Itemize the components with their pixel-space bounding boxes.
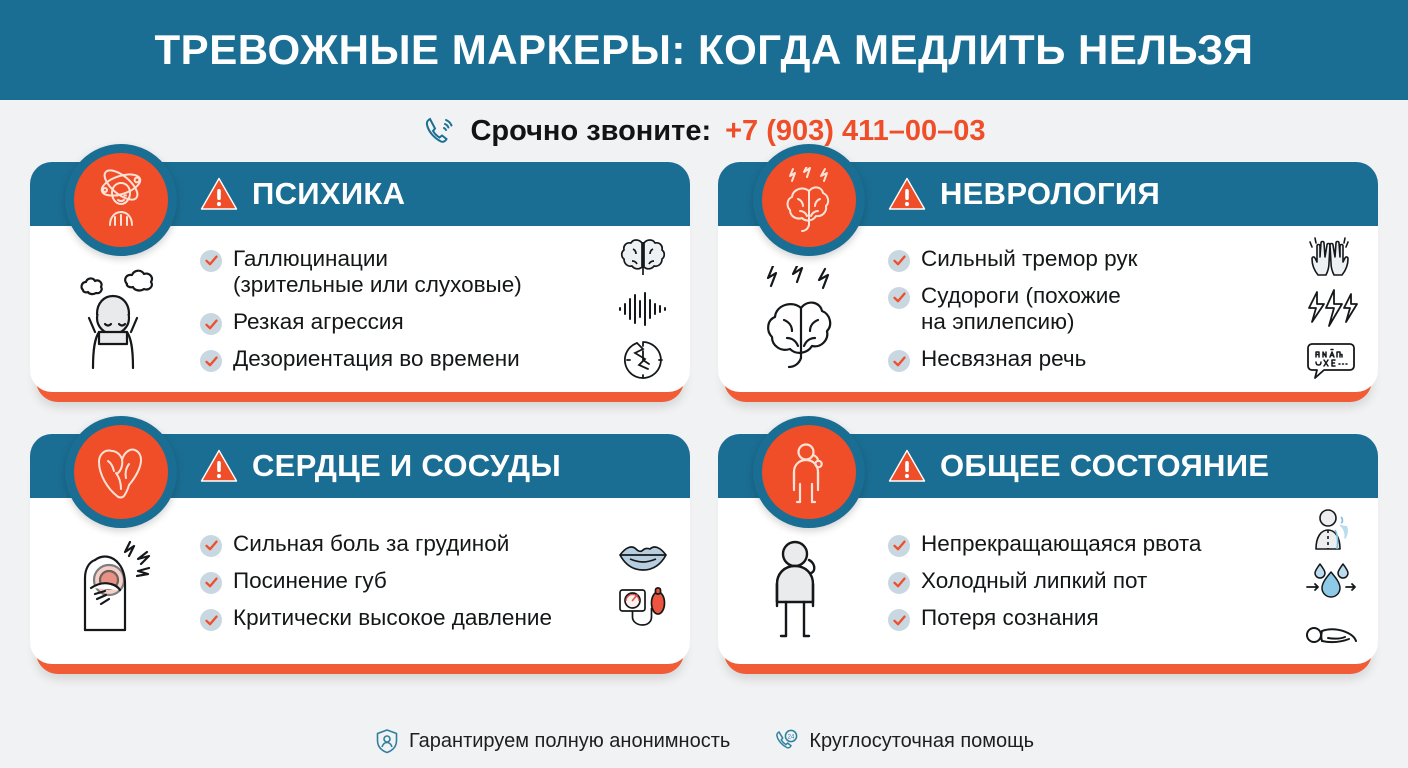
confused-head-icon <box>65 144 177 256</box>
card-mini-icons <box>1283 509 1378 653</box>
list-item-label: Посинение губ <box>233 568 387 594</box>
check-icon <box>888 250 910 272</box>
call-to-action-strip: Срочно звоните: +7 (903) 411–00–03 <box>0 100 1408 162</box>
warning-triangle-icon <box>200 177 238 211</box>
page-title: ТРЕВОЖНЫЕ МАРКЕРЫ: КОГДА МЕДЛИТЬ НЕЛЬЗЯ <box>155 29 1254 71</box>
phone-label: Срочно звоните: <box>470 115 711 148</box>
footer-item-label: Круглосуточная помощь <box>809 730 1034 753</box>
list-item-label: Потеря сознания <box>921 605 1099 631</box>
list-item-label: Судороги (похожие на эпилепсию) <box>921 283 1121 335</box>
page-banner: ТРЕВОЖНЫЕ МАРКЕРЫ: КОГДА МЕДЛИТЬ НЕЛЬЗЯ <box>0 0 1408 100</box>
blood-pressure-monitor-icon <box>616 586 670 628</box>
card-body: НЕВРОЛОГИЯ <box>718 162 1378 392</box>
check-icon <box>200 250 222 272</box>
list-item: Судороги (похожие на эпилепсию) <box>888 283 1277 335</box>
list-item-label: Непрекращающаяся рвота <box>921 531 1201 557</box>
list-item: Резкая агрессия <box>200 309 589 335</box>
list-item-label: Несвязная речь <box>921 346 1086 372</box>
card-heart[interactable]: СЕРДЦЕ И СОСУДЫ <box>30 434 690 664</box>
check-icon <box>888 609 910 631</box>
brain-icon <box>616 237 670 279</box>
list-item-label: Сильная боль за грудиной <box>233 531 509 557</box>
check-icon <box>200 313 222 335</box>
garbled-speech-icon <box>1304 339 1358 381</box>
symptom-list: Сильная боль за грудиной Посинение губ К… <box>200 531 595 631</box>
list-item: Галлюцинации (зрительные или слуховые) <box>200 246 589 298</box>
check-icon <box>200 350 222 372</box>
lightning-bolts-icon <box>1304 288 1358 330</box>
card-body: ПСИХИКА <box>30 162 690 392</box>
cards-grid: ПСИХИКА <box>0 162 1408 684</box>
brain-bolts-icon <box>718 248 888 370</box>
card-title: ОБЩЕЕ СОСТОЯНИЕ <box>940 448 1269 484</box>
list-item-label: Дезориентация во времени <box>233 346 520 372</box>
list-item: Сильная боль за грудиной <box>200 531 589 557</box>
footer-item-anonymity: Гарантируем полную анонимность <box>374 728 730 754</box>
brain-lightning-icon <box>753 144 865 256</box>
card-title: СЕРДЦЕ И СОСУДЫ <box>252 448 561 484</box>
list-item: Сильный тремор рук <box>888 246 1277 272</box>
list-item-label: Критически высокое давление <box>233 605 552 631</box>
card-title: НЕВРОЛОГИЯ <box>940 176 1160 212</box>
list-item-label: Сильный тремор рук <box>921 246 1138 272</box>
warning-triangle-icon <box>200 449 238 483</box>
list-item: Посинение губ <box>200 568 589 594</box>
lying-person-icon <box>1304 611 1358 653</box>
card-body: ОБЩЕЕ СОСТОЯНИЕ <box>718 434 1378 664</box>
shield-person-icon <box>374 728 400 754</box>
check-icon <box>888 572 910 594</box>
svg-text:24: 24 <box>788 734 795 740</box>
heart-icon <box>65 416 177 528</box>
card-title: ПСИХИКА <box>252 176 405 212</box>
sweating-person-icon <box>1304 509 1358 551</box>
list-item-label: Галлюцинации (зрительные или слуховые) <box>233 246 522 298</box>
person-unwell-icon <box>753 416 865 528</box>
card-mini-icons <box>1283 237 1378 381</box>
footer-item-label: Гарантируем полную анонимность <box>409 730 730 753</box>
list-item: Несвязная речь <box>888 346 1277 372</box>
list-item-label: Резкая агрессия <box>233 309 404 335</box>
broken-clock-icon <box>616 339 670 381</box>
list-item: Непрекращающаяся рвота <box>888 531 1277 557</box>
stressed-person-icon <box>30 248 200 370</box>
list-item: Холодный липкий пот <box>888 568 1277 594</box>
card-mini-icons <box>595 535 690 628</box>
check-icon <box>200 609 222 631</box>
card-body: СЕРДЦЕ И СОСУДЫ <box>30 434 690 664</box>
sound-wave-icon <box>616 288 670 330</box>
check-icon <box>888 287 910 309</box>
check-icon <box>200 535 222 557</box>
symptom-list: Сильный тремор рук Судороги (похожие на … <box>888 246 1283 372</box>
footer-trust-bar: Гарантируем полную анонимность 24 Кругло… <box>0 728 1408 754</box>
warning-triangle-icon <box>888 177 926 211</box>
symptom-list: Галлюцинации (зрительные или слуховые) Р… <box>200 246 595 372</box>
list-item: Дезориентация во времени <box>200 346 589 372</box>
card-neurology[interactable]: НЕВРОЛОГИЯ <box>718 162 1378 392</box>
blue-lips-icon <box>616 535 670 577</box>
footer-item-24h: 24 Круглосуточная помощь <box>774 728 1034 754</box>
check-icon <box>200 572 222 594</box>
card-general[interactable]: ОБЩЕЕ СОСТОЯНИЕ <box>718 434 1378 664</box>
water-drops-icon <box>1304 560 1358 602</box>
check-icon <box>888 535 910 557</box>
phone-number[interactable]: +7 (903) 411–00–03 <box>725 115 985 148</box>
list-item: Критически высокое давление <box>200 605 589 631</box>
dizzy-person-icon <box>718 520 888 642</box>
chest-pain-icon <box>30 520 200 642</box>
shaking-hands-icon <box>1304 237 1358 279</box>
phone-24h-icon: 24 <box>774 728 800 754</box>
warning-triangle-icon <box>888 449 926 483</box>
phone-call-icon <box>422 114 456 148</box>
list-item-label: Холодный липкий пот <box>921 568 1147 594</box>
card-mini-icons <box>595 237 690 381</box>
symptom-list: Непрекращающаяся рвота Холодный липкий п… <box>888 531 1283 631</box>
check-icon <box>888 350 910 372</box>
list-item: Потеря сознания <box>888 605 1277 631</box>
card-psyche[interactable]: ПСИХИКА <box>30 162 690 392</box>
